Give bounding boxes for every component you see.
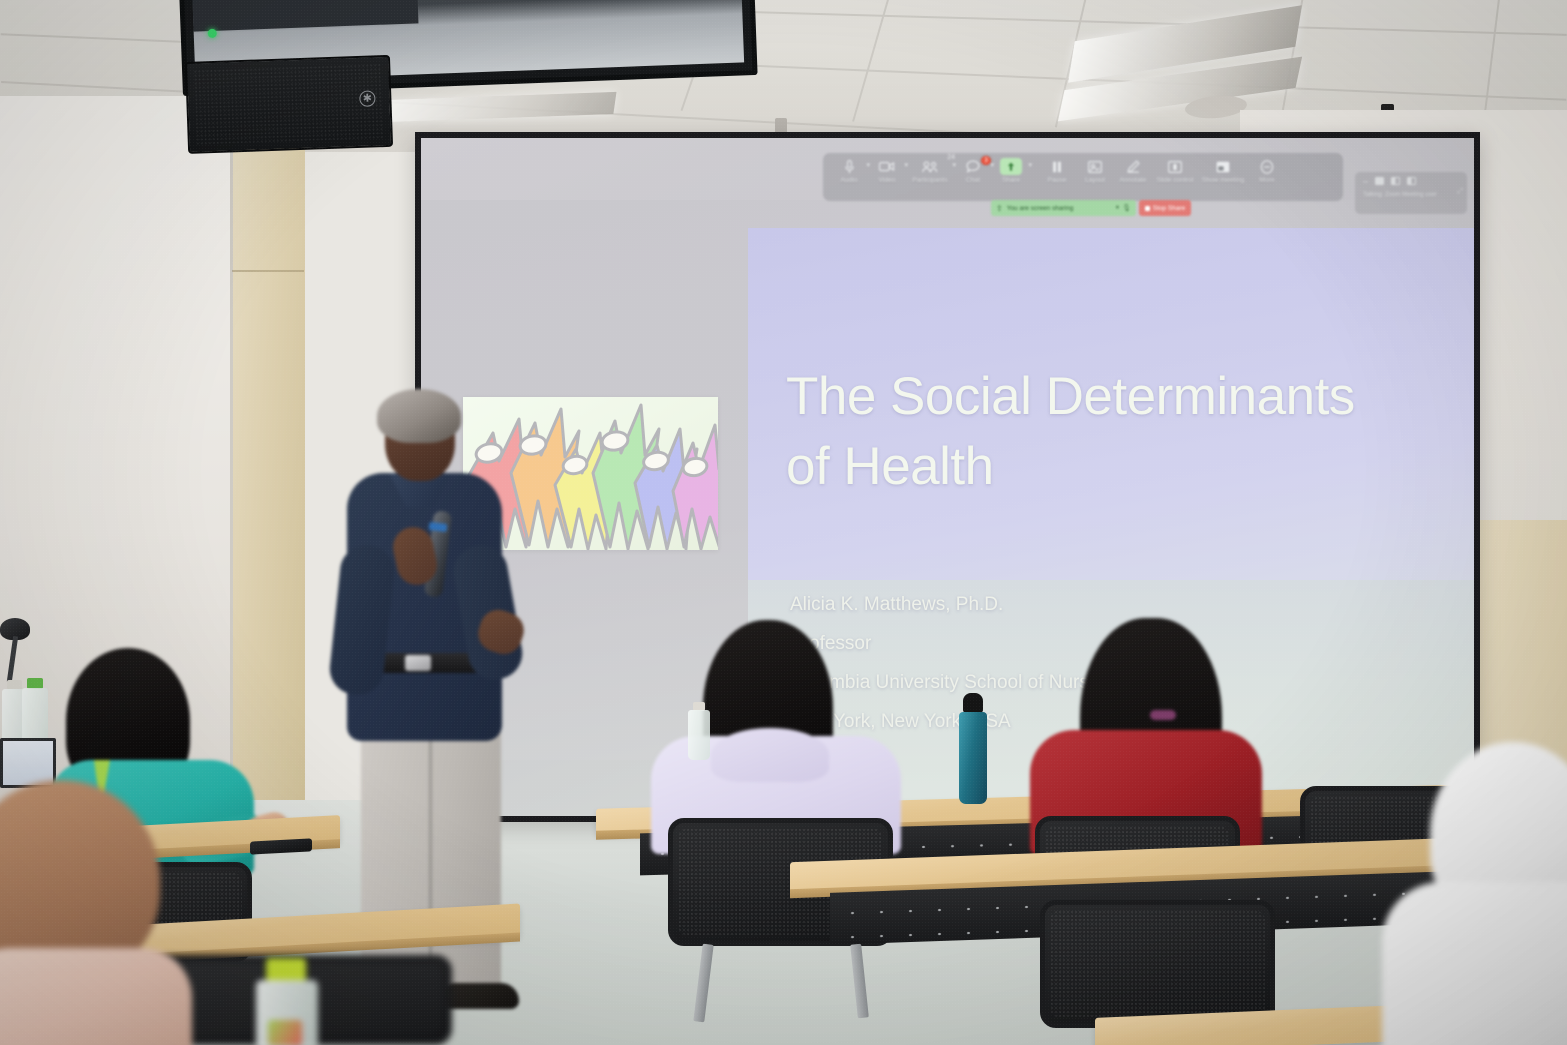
zoom-video-button[interactable]: ▾ Video [869,158,905,184]
layout-icon [1088,158,1102,175]
hijab-shoulders [1382,882,1567,1045]
fullscreen-icon[interactable]: ⤢ [1457,188,1463,196]
zoom-share-button[interactable]: ▾ Share [993,158,1029,184]
talking-indicator: Talking: Zoom Meeting user [1363,192,1459,198]
chair-mesh [1050,910,1265,1018]
bottle-handle-icon [965,695,981,706]
slide-title-line-2: of Health [786,432,1466,502]
chair-leg [693,944,713,1023]
grid-view-icon[interactable] [1407,177,1416,185]
share-arrow-icon: ⇧ [996,204,1003,213]
chevron-down-icon[interactable]: ▾ [1028,161,1032,169]
zoom-participants-button[interactable]: 24 ▾ Participants [907,158,953,184]
stop-icon [1145,206,1150,211]
chat-icon [966,158,980,175]
slide-control-icon [1168,158,1182,175]
sharing-pause-icon[interactable]: ⏸ [1116,204,1120,212]
zoom-share-label: Share [1002,177,1020,184]
clear-water-bottle-center [688,702,710,760]
stop-share-label: Stop Share [1153,205,1186,212]
power-led-icon [208,28,217,37]
microphone-icon [845,158,854,175]
more-icon [1260,158,1274,175]
zoom-layout-label: Layout [1085,177,1105,184]
wood-panel-seam [232,270,304,272]
minimize-icon[interactable]: – [1363,177,1368,185]
zoom-layout-button[interactable]: Layout [1077,158,1113,184]
show-meeting-icon [1216,158,1230,175]
bottle-label [268,1020,302,1045]
slide-title-line-1: The Social Determinants [786,362,1466,432]
attendee-foreground [0,780,202,1045]
zoom-more-button[interactable]: More [1249,158,1285,184]
zoom-slide-control-button[interactable]: Slide control [1153,158,1197,184]
zoom-participants-count: 24 [947,154,955,161]
zoom-show-meeting-button[interactable]: Show meeting [1199,158,1247,184]
zoom-video-label: Video [878,177,895,184]
zoom-pause-button[interactable]: Pause [1039,158,1075,184]
zoom-meeting-toolbar[interactable]: ▾ Audio ▾ Video 24 ▾ Participants 3 ▾ Ch… [823,153,1343,201]
zoom-audio-label: Audio [840,177,857,184]
zoom-slide-control-label: Slide control [1156,177,1193,184]
attendee-lavender-hoodie [645,620,907,850]
zoom-view-panel[interactable]: – ⤢ Talking: Zoom Meeting user [1355,172,1467,214]
pause-icon [1052,158,1062,175]
attendee-hair-clip [1150,710,1176,720]
speaker-mesh [193,63,385,146]
gallery-view-icon[interactable] [1391,177,1400,185]
attendee-white-hijab [1372,742,1567,1045]
participants-icon [922,158,939,175]
zoom-annotate-label: Annotate [1120,177,1147,184]
lectern-microphone [0,618,40,682]
tv-caption: Columbia University School of Nursing Ne… [444,0,694,3]
attendee-shoulders [0,948,192,1045]
microphone-gooseneck [7,636,18,682]
chair-leg [850,944,869,1019]
bottle-body [688,710,710,760]
zoom-audio-button[interactable]: ▾ Audio [831,158,867,184]
zoom-chat-label: Chat [966,177,980,184]
screen-sharing-text: You are screen sharing [1007,205,1074,212]
presenter-belt-buckle [405,655,431,671]
stop-share-button[interactable]: Stop Share [1139,200,1191,216]
presenter-hair [377,389,461,443]
zoom-annotate-button[interactable]: Annotate [1115,158,1151,184]
slide-title: The Social Determinants of Health [786,362,1466,503]
zoom-participants-label: Participants [912,177,947,184]
zoom-show-meeting-label: Show meeting [1202,177,1244,184]
zoom-pause-label: Pause [1048,177,1067,184]
teal-water-bottle [958,693,988,803]
zoom-chat-button[interactable]: 3 ▾ Chat [955,158,991,184]
foreground-bottle [250,958,322,1045]
zoom-more-label: More [1259,177,1274,184]
yamaha-ceiling-speaker: ✱ [185,55,393,154]
pencil-icon [1127,158,1140,175]
tv-caption-line-2: New York, New York, USA [445,0,694,3]
attendee-hood [711,728,829,782]
bottle-cap [266,958,306,982]
share-screen-icon [1000,158,1022,175]
presenter-shoe [441,983,519,1009]
sharing-mic-icon[interactable]: 🎙 [1122,204,1131,212]
view-mode-icons[interactable]: – [1363,177,1459,185]
screen-sharing-status: ⇧ You are screen sharing ⏸ 🎙 [991,200,1136,216]
camera-icon [879,158,895,175]
bottle-body [959,712,987,804]
tv-slide-thumbnail [191,0,418,32]
classroom-presentation-photo: The Social Determinants of Health Alicia… [0,0,1567,1045]
speaker-view-icon[interactable] [1375,177,1384,185]
